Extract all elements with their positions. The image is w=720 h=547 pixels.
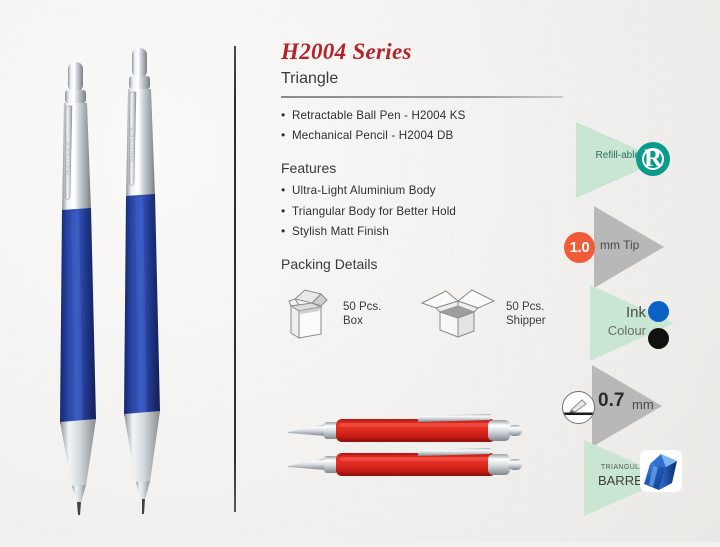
list-item: Ultra-Light Aluminium Body	[281, 185, 571, 197]
model-list: Retractable Ball Pen - H2004 KS Mechanic…	[281, 110, 571, 142]
list-item: Triangular Body for Better Hold	[281, 206, 571, 218]
svg-text:HAUSER: HAUSER	[64, 140, 72, 175]
badge-barrel-label-line2: BARREL	[572, 473, 650, 488]
badge-barrel: TRIANGULAR BARREL	[580, 436, 676, 525]
packing-box-qty: 50 Pcs.	[343, 301, 381, 313]
red-mechanical-pencil	[288, 448, 522, 476]
ink-dot-black	[648, 328, 669, 349]
features-list: Ultra-Light Aluminium Body Triangular Bo…	[281, 185, 571, 238]
product-info-column: H2004 Series Triangle Retractable Ball P…	[281, 40, 571, 348]
blue-ball-pen: HAUSER	[60, 62, 96, 515]
list-item: Retractable Ball Pen - H2004 KS	[281, 110, 571, 122]
packing-shipper-label: 50 Pcs. Shipper	[506, 300, 546, 329]
packing-shipper-unit: Shipper	[506, 315, 546, 327]
badge-tip-label: mm Tip	[600, 238, 639, 252]
packing-heading: Packing Details	[281, 256, 571, 272]
refill-r-letter: R	[644, 145, 662, 172]
list-item: Mechanical Pencil - H2004 DB	[281, 130, 571, 142]
catalog-page: HAUSER HAUSER	[0, 0, 720, 542]
badge-ink-label-line1: Ink	[574, 304, 646, 321]
ink-dot-blue	[648, 301, 669, 322]
packing-details-row: 50 Pcs. Box	[281, 281, 571, 348]
shipper-carton-icon	[416, 281, 500, 348]
packing-item-shipper: 50 Pcs. Shipper	[416, 281, 546, 348]
badge-ink-label-line2: Colour	[574, 323, 646, 338]
product-subtitle: Triangle	[281, 70, 571, 88]
feature-badges-column: Refill-able R 1.0 mm Tip Ink Colour	[556, 118, 720, 538]
packing-box-unit: Box	[343, 315, 363, 327]
red-ball-pen	[288, 414, 522, 442]
badge-lead-value: 0.7	[598, 390, 624, 412]
title-divider-rule	[281, 96, 563, 98]
packing-item-box: 50 Pcs. Box	[281, 281, 416, 348]
tip-size-icon: 1.0	[564, 232, 595, 263]
red-pens-photo	[278, 402, 540, 487]
badge-barrel-label-line1: TRIANGULAR	[572, 464, 650, 471]
badge-refillable-label: Refill-able	[568, 150, 640, 161]
badge-ink-colour: Ink Colour	[586, 281, 678, 370]
list-item: Stylish Matt Finish	[281, 226, 571, 238]
features-heading: Features	[281, 160, 571, 176]
small-box-icon	[281, 281, 337, 348]
vertical-divider	[234, 46, 236, 512]
pencil-lead-icon	[562, 391, 595, 424]
blue-pens-photo: HAUSER HAUSER	[0, 0, 212, 542]
blue-mechanical-pencil: HAUSER	[124, 48, 160, 514]
badge-lead-unit: mm	[632, 397, 654, 412]
packing-shipper-qty: 50 Pcs.	[506, 301, 544, 313]
badge-refillable: Refill-able R	[570, 118, 666, 207]
refill-r-icon: R	[636, 142, 670, 176]
triangular-barrel-icon	[640, 450, 682, 492]
svg-text:HAUSER: HAUSER	[128, 126, 136, 161]
page-title: H2004 Series	[281, 40, 571, 64]
packing-box-label: 50 Pcs. Box	[343, 300, 381, 329]
